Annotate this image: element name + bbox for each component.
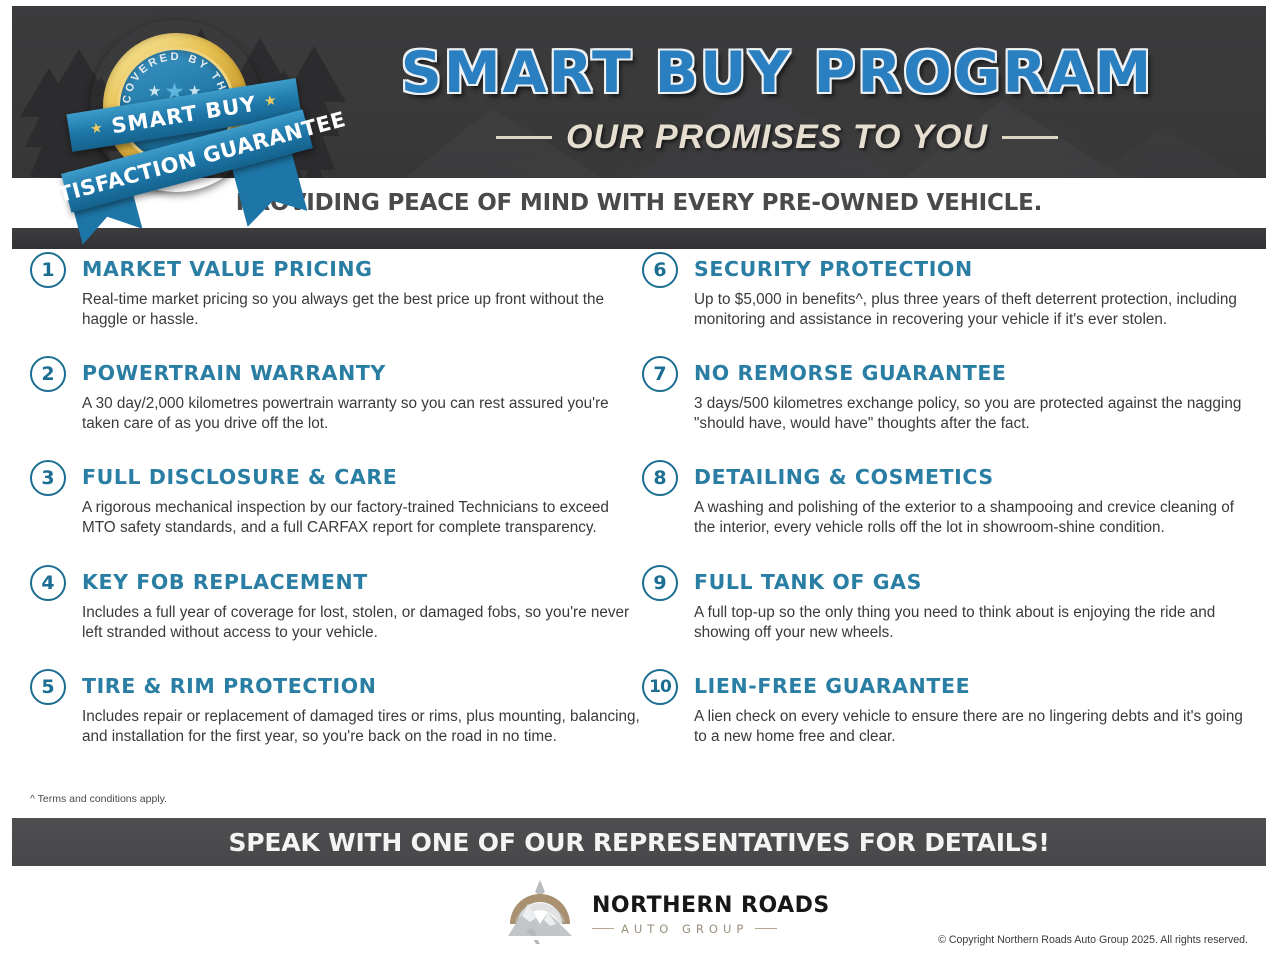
promise-number-badge: 4: [30, 565, 66, 601]
brand-name: NORTHERN ROADS: [592, 893, 830, 918]
promise-number-badge: 2: [30, 356, 66, 392]
promise-title: TIRE & RIM PROTECTION: [82, 674, 377, 698]
cta-text: SPEAK WITH ONE OF OUR REPRESENTATIVES FO…: [228, 828, 1049, 857]
mountain-compass-icon: [502, 878, 578, 946]
promise-body: A lien check on every vehicle to ensure …: [694, 707, 1259, 748]
smart-buy-program-flyer: SMART BUY PROGRAM OUR PROMISES TO YOU PR…: [0, 0, 1280, 960]
promise-title: NO REMORSE GUARANTEE: [694, 361, 1007, 385]
promise-number-badge: 3: [30, 460, 66, 496]
smart-buy-seal: COVERED BY THE ★★★ ★ SMART BUY ★ SATISFA…: [62, 14, 312, 249]
brand-sub: AUTO GROUP: [621, 922, 748, 936]
star-icon-left: ★: [81, 119, 113, 139]
promise-title: MARKET VALUE PRICING: [82, 257, 373, 281]
promise-title: FULL TANK OF GAS: [694, 570, 922, 594]
promise-body: A washing and polishing of the exterior …: [694, 498, 1259, 539]
header-subtitle: OUR PROMISES TO YOU: [566, 118, 988, 157]
page-title: SMART BUY PROGRAM: [327, 40, 1227, 106]
promise-body: Real-time market pricing so you always g…: [82, 290, 642, 331]
tagline-text: PROVIDING PEACE OF MIND WITH EVERY PRE-O…: [236, 190, 1042, 216]
dash-left: [592, 928, 614, 929]
promise-number-badge: 1: [30, 252, 66, 288]
promise-title: DETAILING & COSMETICS: [694, 465, 994, 489]
brand-sub-row: AUTO GROUP: [592, 922, 830, 936]
northern-roads-logo: NORTHERN ROADS AUTO GROUP: [502, 878, 830, 946]
promise-body: Up to $5,000 in benefits^, plus three ye…: [694, 290, 1259, 331]
promise-title: KEY FOB REPLACEMENT: [82, 570, 368, 594]
promise-body: A rigorous mechanical inspection by our …: [82, 498, 642, 539]
promise-title: POWERTRAIN WARRANTY: [82, 361, 386, 385]
copyright-text: © Copyright Northern Roads Auto Group 20…: [938, 934, 1248, 946]
promise-number-badge: 7: [642, 356, 678, 392]
cta-band[interactable]: SPEAK WITH ONE OF OUR REPRESENTATIVES FO…: [12, 818, 1266, 866]
promises-content: 1MARKET VALUE PRICINGReal-time market pr…: [12, 252, 1266, 812]
dash-right: [755, 928, 777, 929]
rule-left: [496, 136, 552, 139]
promise-number-badge: 6: [642, 252, 678, 288]
promise-body: 3 days/500 kilometres exchange policy, s…: [694, 394, 1259, 435]
promise-title: SECURITY PROTECTION: [694, 257, 973, 281]
header-subtitle-row: OUR PROMISES TO YOU: [327, 118, 1227, 157]
terms-note: ^ Terms and conditions apply.: [30, 793, 167, 805]
promise-body: A full top-up so the only thing you need…: [694, 603, 1259, 644]
promise-number-badge: 10: [642, 669, 678, 705]
promise-number-badge: 5: [30, 669, 66, 705]
promise-title: LIEN-FREE GUARANTEE: [694, 674, 970, 698]
promise-body: Includes a full year of coverage for los…: [82, 603, 642, 644]
promise-body: A 30 day/2,000 kilometres powertrain war…: [82, 394, 642, 435]
footer: NORTHERN ROADS AUTO GROUP © Copyright No…: [12, 866, 1266, 954]
star-icon-right: ★: [255, 91, 287, 111]
promise-title: FULL DISCLOSURE & CARE: [82, 465, 397, 489]
brand-text-block: NORTHERN ROADS AUTO GROUP: [592, 889, 830, 936]
rule-right: [1002, 136, 1058, 139]
promise-number-badge: 9: [642, 565, 678, 601]
promise-body: Includes repair or replacement of damage…: [82, 707, 642, 748]
promise-number-badge: 8: [642, 460, 678, 496]
